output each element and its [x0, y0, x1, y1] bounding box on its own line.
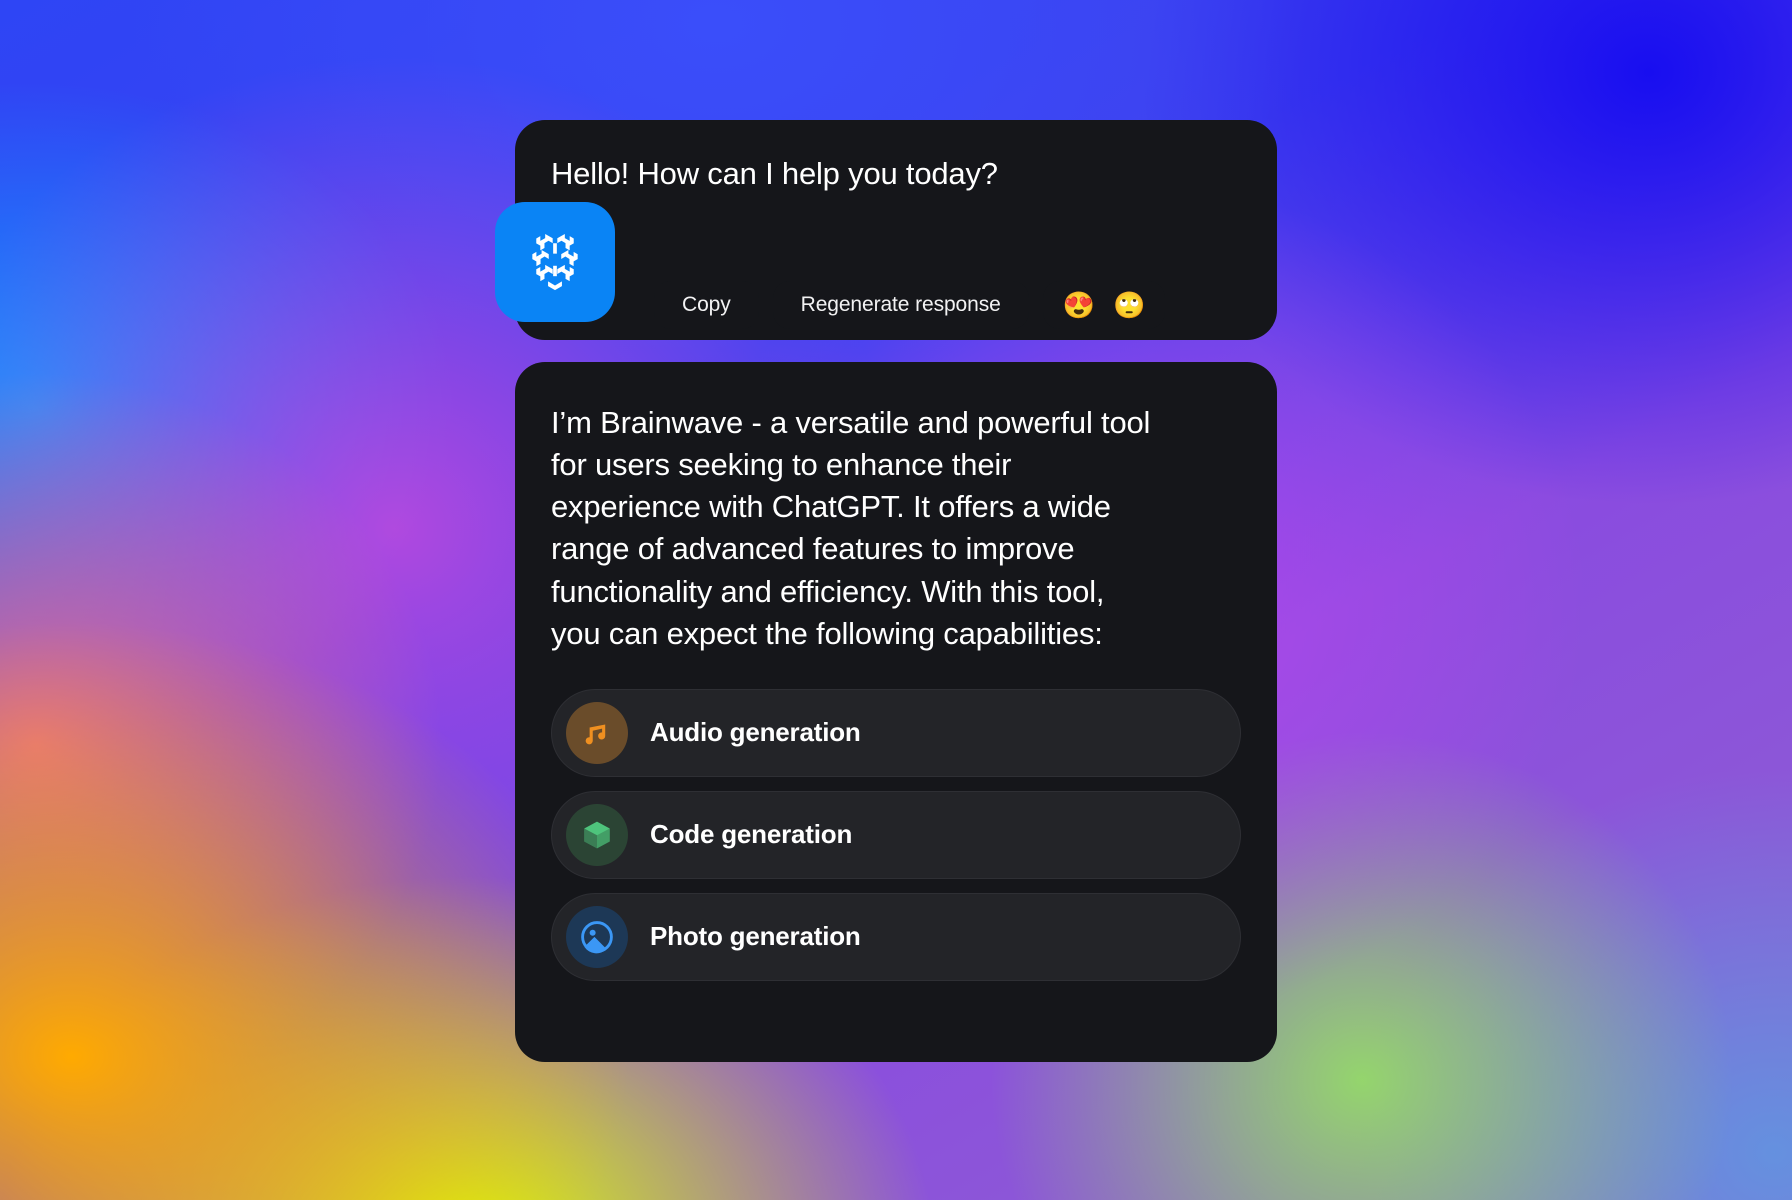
greeting-text: Hello! How can I help you today? [551, 154, 1241, 194]
cube-icon [566, 804, 628, 866]
copy-button[interactable]: Copy [654, 281, 759, 329]
capability-label: Code generation [650, 819, 852, 850]
action-buttons: Copy Regenerate response 😍 🙄 [654, 281, 1165, 329]
rolling-eyes-emoji-button[interactable]: 🙄 [1109, 292, 1149, 318]
image-icon [566, 906, 628, 968]
capability-item-audio-generation[interactable]: Audio generation [551, 689, 1241, 777]
capability-item-photo-generation[interactable]: Photo generation [551, 893, 1241, 981]
music-note-icon [566, 702, 628, 764]
capability-item-code-generation[interactable]: Code generation [551, 791, 1241, 879]
capability-label: Photo generation [650, 921, 861, 952]
message-action-row: Copy Regenerate response 😍 🙄 [515, 264, 1277, 340]
answer-text: I’m Brainwave - a versatile and powerful… [551, 402, 1151, 655]
brainwave-logo-icon [518, 223, 592, 302]
reaction-group: 😍 🙄 [1043, 281, 1166, 329]
capability-label: Audio generation [650, 717, 861, 748]
answer-message-bubble: I’m Brainwave - a versatile and powerful… [515, 362, 1277, 1062]
heart-eyes-emoji-button[interactable]: 😍 [1059, 292, 1099, 318]
regenerate-response-button[interactable]: Regenerate response [773, 281, 1029, 329]
capability-list: Audio generation Code generation [551, 689, 1241, 981]
assistant-avatar [495, 202, 615, 322]
conversation-column: Hello! How can I help you today? [515, 120, 1277, 1062]
